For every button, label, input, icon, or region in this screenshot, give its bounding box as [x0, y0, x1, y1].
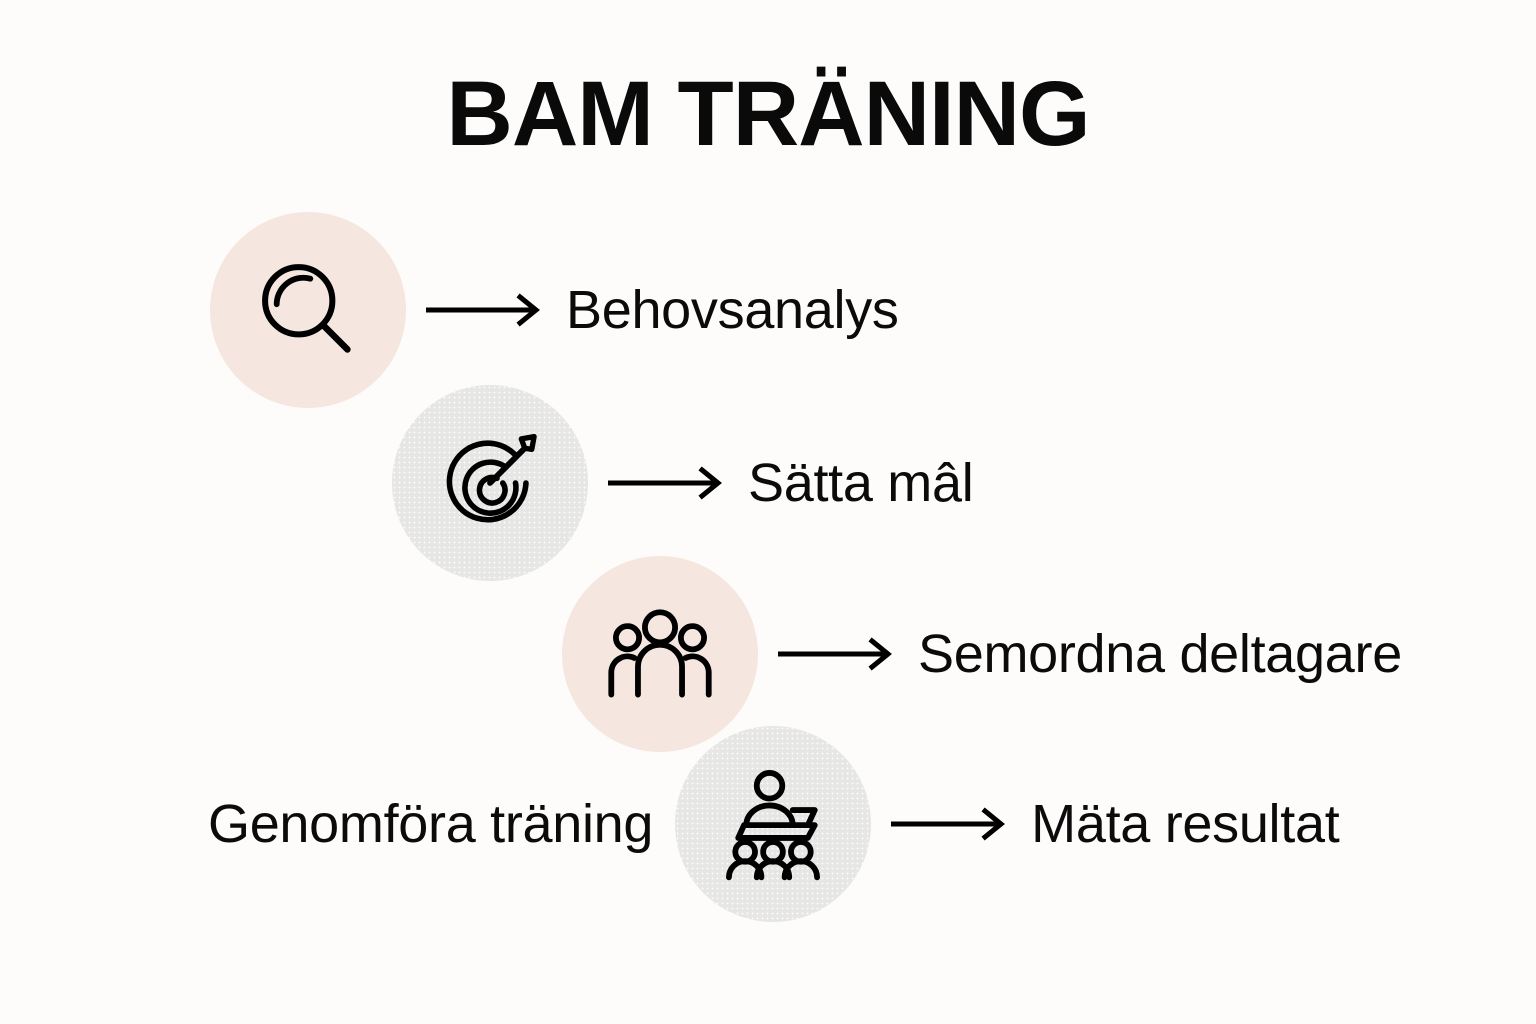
right-arrow-icon — [606, 463, 730, 503]
flow-step-4: Genomföra träning Mäta resul — [208, 726, 1339, 922]
page-title: BAM TRÄNING — [0, 68, 1536, 160]
step-1-label: Behovsanalys — [566, 283, 899, 337]
step-4-icon-circle — [675, 726, 871, 922]
flow-step-3: Semordna deltagare — [562, 556, 1402, 752]
flow-step-2: Sätta mâl — [392, 385, 973, 581]
magnifier-icon — [250, 252, 366, 368]
right-arrow-icon — [889, 804, 1013, 844]
step-3-label: Semordna deltagare — [918, 627, 1402, 681]
infographic-root: BAM TRÄNING Behovsanalys — [0, 0, 1536, 1024]
right-arrow-icon — [776, 634, 900, 674]
step-3-icon-circle — [562, 556, 758, 752]
right-arrow-icon — [424, 290, 548, 330]
group-people-icon — [602, 596, 718, 712]
step-1-icon-circle — [210, 212, 406, 408]
step-4-label: Mäta resultat — [1031, 797, 1339, 851]
step-2-icon-circle — [392, 385, 588, 581]
target-dart-icon — [432, 425, 548, 541]
flow-step-1: Behovsanalys — [210, 212, 899, 408]
step-4-left-label: Genomföra träning — [208, 797, 653, 851]
step-2-label: Sätta mâl — [748, 456, 973, 510]
presenter-audience-icon — [715, 766, 831, 882]
